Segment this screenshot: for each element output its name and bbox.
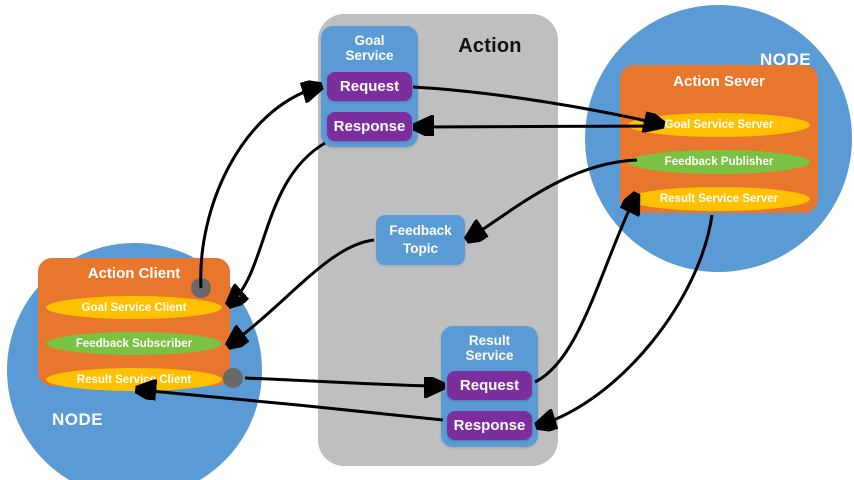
action-server-title: Action Sever xyxy=(620,73,818,90)
feedback-topic-line1: Feedback xyxy=(389,223,451,238)
result-service-client-pill: Result Service Client xyxy=(46,368,222,391)
goal-service-title-line1: Goal xyxy=(354,33,384,48)
result-client-connector-dot xyxy=(223,368,243,388)
result-service-response: Response xyxy=(447,411,532,440)
feedback-topic-box: Feedback Topic xyxy=(376,215,465,265)
result-service-title-line1: Result xyxy=(469,333,510,348)
action-title: Action xyxy=(430,35,550,58)
result-service-title-line2: Service xyxy=(465,348,513,363)
goal-service-client-pill: Goal Service Client xyxy=(46,296,222,319)
result-service-server-pill: Result Service Server xyxy=(628,187,810,211)
goal-service-title-line2: Service xyxy=(345,48,393,63)
result-service-request: Request xyxy=(447,371,532,400)
goal-service-server-pill: Goal Service Server xyxy=(628,113,810,137)
goal-service-title: Goal Service xyxy=(321,33,418,63)
feedback-topic-label: Feedback Topic xyxy=(376,222,465,258)
client-node-label: NODE xyxy=(52,410,103,430)
goal-service-request: Request xyxy=(327,72,412,101)
feedback-subscriber-pill: Feedback Subscriber xyxy=(46,332,222,355)
goal-client-connector-dot xyxy=(191,278,211,298)
result-service-title: Result Service xyxy=(441,333,538,363)
action-server-panel: Action Sever Goal Service Server Feedbac… xyxy=(620,65,818,213)
feedback-topic-line2: Topic xyxy=(403,241,438,256)
diagram-canvas: Action Goal Service Request Response Res… xyxy=(0,0,854,480)
feedback-publisher-pill: Feedback Publisher xyxy=(628,150,810,174)
goal-service-response: Response xyxy=(327,112,412,141)
arrow-goal-response-to-client xyxy=(231,143,325,303)
